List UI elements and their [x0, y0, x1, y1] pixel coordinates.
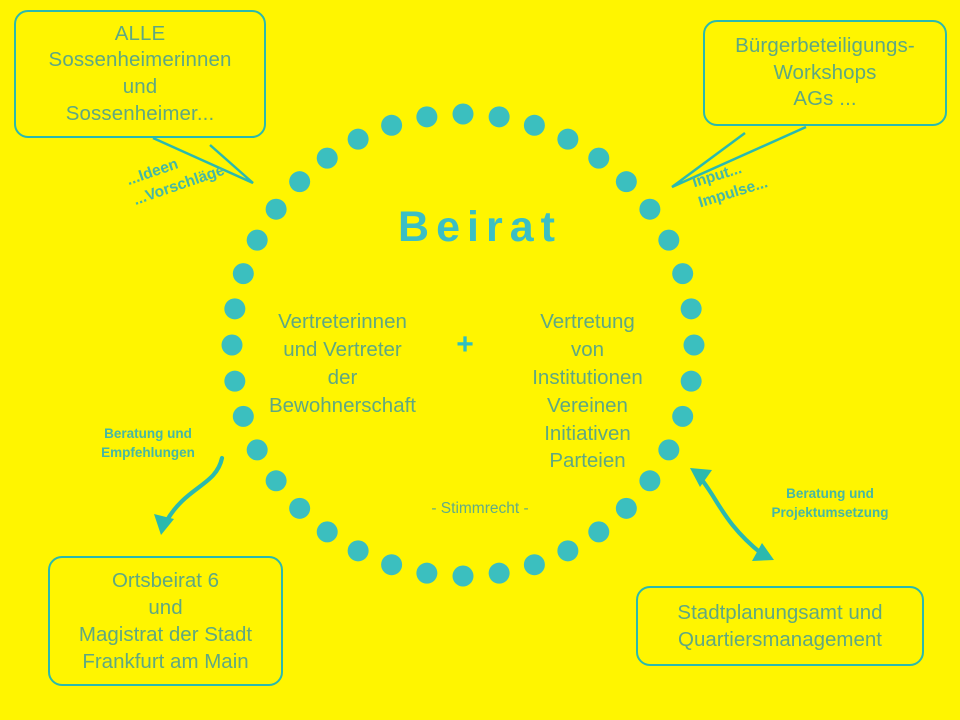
column-right-line: Parteien — [500, 447, 675, 475]
circle-dot — [616, 171, 637, 192]
circle-dot — [222, 335, 243, 356]
column-bewohnerschaft: Vertreterinnen und Vertreter der Bewohne… — [255, 308, 430, 420]
box-stadtplanung-line: Quartiersmanagement — [678, 626, 882, 653]
column-left-line: Vertreterinnen — [255, 308, 430, 336]
bubble-workshops-line: Workshops — [773, 60, 876, 87]
annotation-ideen-vorschlaege: ...Ideen ...Vorschläge — [124, 141, 228, 212]
bubble-workshops-line: Bürgerbeteiligungs- — [735, 33, 915, 60]
circle-dot — [588, 521, 609, 542]
circle-dot — [381, 115, 402, 136]
arrowhead-projektumsetzung-up — [690, 468, 712, 487]
circle-dot — [489, 106, 510, 127]
circle-dot — [416, 106, 437, 127]
column-left-line: der — [255, 364, 430, 392]
circle-dot — [453, 566, 474, 587]
column-right-line: von — [500, 336, 675, 364]
column-right-line: Institutionen — [500, 364, 675, 392]
circle-dot — [317, 521, 338, 542]
box-ortsbeirat-line: Magistrat der Stadt — [79, 621, 252, 648]
box-stadtplanungsamt: Stadtplanungsamt und Quartiersmanagement — [636, 586, 924, 666]
box-ortsbeirat: Ortsbeirat 6 und Magistrat der Stadt Fra… — [48, 556, 283, 686]
box-ortsbeirat-line: und — [148, 594, 182, 621]
circle-dot — [317, 148, 338, 169]
circle-dot — [672, 406, 693, 427]
circle-dot — [416, 563, 437, 584]
circle-dot — [681, 371, 702, 392]
annotation-beratung-empfehlungen: Beratung und Empfehlungen — [78, 425, 218, 463]
plus-icon: + — [445, 330, 485, 360]
circle-dot — [489, 563, 510, 584]
annotation-beratung-left-line: Beratung und — [78, 425, 218, 444]
bubble-citizens: ALLE Sossenheimerinnen und Sossenheimer.… — [14, 10, 266, 138]
page-title: Beirat — [0, 203, 960, 252]
circle-dot — [348, 129, 369, 150]
circle-dot — [453, 104, 474, 125]
column-right-line: Initiativen — [500, 420, 675, 448]
column-institutionen: Vertretung von Institutionen Vereinen In… — [500, 308, 675, 475]
circle-dot — [557, 540, 578, 561]
circle-dot — [289, 171, 310, 192]
footnote-stimmrecht: - Stimmrecht - — [0, 500, 960, 518]
center-columns: Vertreterinnen und Vertreter der Bewohne… — [255, 308, 675, 475]
circle-dot — [381, 554, 402, 575]
bubble-citizens-line: Sossenheimerinnen — [49, 47, 232, 74]
circle-dot — [224, 298, 245, 319]
bubble-citizens-line: Sossenheimer... — [66, 101, 215, 128]
circle-dot — [588, 148, 609, 169]
circle-dot — [524, 554, 545, 575]
circle-dot — [233, 263, 254, 284]
box-ortsbeirat-line: Frankfurt am Main — [82, 648, 248, 675]
column-right-line: Vereinen — [500, 392, 675, 420]
circle-dot — [557, 129, 578, 150]
bubble-workshops-line: AGs ... — [793, 86, 856, 113]
column-left-line: Bewohnerschaft — [255, 392, 430, 420]
diagram-canvas: ALLE Sossenheimerinnen und Sossenheimer.… — [0, 0, 960, 720]
circle-dot — [348, 540, 369, 561]
annotation-beratung-left-line: Empfehlungen — [78, 444, 218, 463]
circle-dot — [224, 371, 245, 392]
circle-dot — [684, 335, 705, 356]
box-ortsbeirat-line: Ortsbeirat 6 — [112, 567, 219, 594]
circle-dot — [524, 115, 545, 136]
bubble-workshops: Bürgerbeteiligungs- Workshops AGs ... — [703, 20, 947, 126]
circle-dot — [681, 298, 702, 319]
column-right-line: Vertretung — [500, 308, 675, 336]
circle-dot — [672, 263, 693, 284]
bubble-citizens-line: und — [123, 74, 158, 101]
column-left-line: und Vertreter — [255, 336, 430, 364]
box-stadtplanung-line: Stadtplanungsamt und — [677, 599, 882, 626]
arrowhead-projektumsetzung-down — [752, 543, 774, 561]
bubble-citizens-line: ALLE — [115, 21, 166, 48]
circle-dot — [233, 406, 254, 427]
